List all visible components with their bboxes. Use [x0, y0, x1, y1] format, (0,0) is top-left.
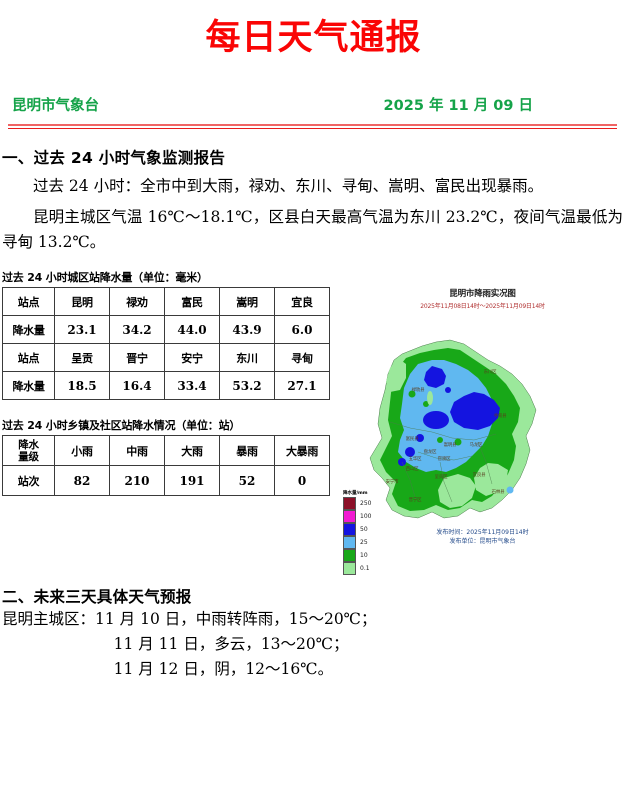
- rainfall-grade-table: 降水 量级 小雨 中雨 大雨 暴雨 大暴雨 站次 82 210: [2, 435, 330, 496]
- city-table-caption: 过去 24 小时城区站降水量（单位：毫米）: [2, 269, 332, 285]
- grade-count: 82: [55, 466, 110, 496]
- map-region-label: 盘龙区: [424, 449, 437, 455]
- map-region-darkblue-c: [423, 411, 449, 429]
- map-region-label: 石林县: [492, 489, 505, 495]
- legend-value: 100: [360, 513, 371, 520]
- map-subtitle: 2025年11月08日14时～2025年11月09日14时: [340, 301, 625, 310]
- grade-corner-line-2: 量级: [18, 451, 38, 463]
- tables-column: 过去 24 小时城区站降水量（单位：毫米） 站点 昆明 禄劝 富民 嵩明 宜良: [2, 269, 332, 496]
- grade-table-caption: 过去 24 小时乡镇及社区站降水情况（单位：站）: [2, 417, 332, 433]
- legend-value: 10: [360, 552, 368, 559]
- section-1-paragraph-1: 过去 24 小时：全市中到大雨，禄劝、东川、寻甸、嵩明、富民出现暴雨。: [2, 174, 623, 199]
- rainfall-value: 27.1: [275, 372, 330, 400]
- legend-value: 50: [360, 526, 368, 533]
- map-region-darkblue-speck: [507, 487, 514, 494]
- section-2-heading: 二、未来三天具体天气预报: [2, 585, 627, 607]
- map-region-label: 官渡区: [438, 456, 451, 462]
- grade-count: 191: [165, 466, 220, 496]
- table-row: 降水量 18.5 16.4 33.4 53.2 27.1: [3, 372, 330, 400]
- grade-count: 210: [110, 466, 165, 496]
- map-region-label: 呈贡区: [435, 474, 448, 480]
- legend-swatch-01: [343, 562, 356, 575]
- station-name: 嵩明: [220, 288, 275, 316]
- grade-count: 0: [275, 466, 330, 496]
- rainfall-value: 34.2: [110, 316, 165, 344]
- map-region-label: 安宁市: [386, 479, 399, 485]
- row-label-station: 站点: [3, 344, 55, 372]
- map-region-label: 宜良县: [473, 472, 486, 478]
- weather-report-page: 每日天气通报 昆明市气象台 2025 年 11 月 09 日 一、过去 24 小…: [0, 0, 627, 806]
- grade-name: 中雨: [110, 436, 165, 466]
- map-region-label: 东川区: [484, 369, 497, 375]
- forecast-line-2: 11 月 11 日，多云，13～20℃；: [2, 632, 627, 657]
- station-name: 安宁: [165, 344, 220, 372]
- grade-name: 暴雨: [220, 436, 275, 466]
- forecast-line-3: 11 月 12 日，阴，12～16℃。: [2, 657, 627, 682]
- station-name: 呈贡: [55, 344, 110, 372]
- row-label-rainfall: 降水量: [3, 372, 55, 400]
- map-region-label: 马龙区: [470, 442, 483, 448]
- row-label-count: 站次: [3, 466, 55, 496]
- legend-title: 降水量/mm: [343, 490, 389, 496]
- issuing-organization: 昆明市气象台: [12, 94, 99, 115]
- legend-swatch-100: [343, 510, 356, 523]
- data-and-map-zone: 过去 24 小时城区站降水量（单位：毫米） 站点 昆明 禄劝 富民 嵩明 宜良: [0, 269, 627, 579]
- legend-value: 250: [360, 500, 371, 507]
- map-region-label: 西山区: [406, 466, 419, 472]
- legend-value: 25: [360, 539, 368, 546]
- station-name: 禄劝: [110, 288, 165, 316]
- rainfall-value: 44.0: [165, 316, 220, 344]
- rainfall-value: 23.1: [55, 316, 110, 344]
- map-region-green-speck: [427, 391, 433, 405]
- header-meta-row: 昆明市气象台 2025 年 11 月 09 日: [0, 94, 627, 115]
- station-name: 宜良: [275, 288, 330, 316]
- map-region-label: 五华区: [409, 456, 422, 462]
- rainfall-map: 昆明市降雨实况图 2025年11月08日14时～2025年11月09日14时: [340, 273, 625, 573]
- legend-value: 0.1: [360, 565, 370, 572]
- map-region-label: 寻甸县: [494, 413, 507, 419]
- legend-item: 100: [343, 510, 389, 523]
- grade-corner-line-1: 降水: [18, 439, 38, 451]
- table-row: 降水量 23.1 34.2 44.0 43.9 6.0: [3, 316, 330, 344]
- rainfall-value: 16.4: [110, 372, 165, 400]
- grade-table-wrapper: 过去 24 小时乡镇及社区站降水情况（单位：站） 降水 量级 小雨: [2, 417, 332, 496]
- legend-swatch-25: [343, 536, 356, 549]
- station-name: 寻甸: [275, 344, 330, 372]
- legend-swatch-250: [343, 497, 356, 510]
- row-label-station: 站点: [3, 288, 55, 316]
- rainfall-value: 18.5: [55, 372, 110, 400]
- table-row: 降水 量级 小雨 中雨 大雨 暴雨 大暴雨: [3, 436, 330, 466]
- station-name: 昆明: [55, 288, 110, 316]
- station-name: 东川: [220, 344, 275, 372]
- map-region-label: 嵩明县: [444, 442, 457, 448]
- header-divider: [8, 124, 617, 129]
- rainfall-value: 33.4: [165, 372, 220, 400]
- rainfall-value: 43.9: [220, 316, 275, 344]
- grade-corner-label: 降水 量级: [3, 436, 55, 466]
- map-region-darkblue-speck: [445, 387, 451, 393]
- section-1-paragraph-2: 昆明主城区气温 16℃～18.1℃，区县白天最高气温为东川 23.2℃，夜间气温…: [2, 205, 623, 255]
- legend-item: 50: [343, 523, 389, 536]
- map-legend: 降水量/mm 250 100 50 25: [343, 490, 389, 575]
- map-region-label: 禄劝县: [412, 387, 425, 393]
- legend-item: 250: [343, 497, 389, 510]
- grade-name: 小雨: [55, 436, 110, 466]
- map-canvas: 禄劝县 东川区 寻甸县 富民县 嵩明县 盘龙区 五华区 官渡区 马龙区 西山区 …: [340, 312, 625, 527]
- legend-swatch-50: [343, 523, 356, 536]
- legend-item: 0.1: [343, 562, 389, 575]
- station-name: 晋宁: [110, 344, 165, 372]
- table-row: 站点 昆明 禄劝 富民 嵩明 宜良: [3, 288, 330, 316]
- map-title: 昆明市降雨实况图: [340, 287, 625, 299]
- station-name: 富民: [165, 288, 220, 316]
- row-label-rainfall: 降水量: [3, 316, 55, 344]
- document-title: 每日天气通报: [0, 0, 627, 60]
- legend-item: 10: [343, 549, 389, 562]
- legend-swatch-10: [343, 549, 356, 562]
- section-1-heading: 一、过去 24 小时气象监测报告: [2, 146, 627, 168]
- rainfall-value: 53.2: [220, 372, 275, 400]
- grade-count: 52: [220, 466, 275, 496]
- map-region-label: 富民县: [406, 436, 419, 442]
- grade-name: 大暴雨: [275, 436, 330, 466]
- grade-name: 大雨: [165, 436, 220, 466]
- city-rainfall-table: 站点 昆明 禄劝 富民 嵩明 宜良 降水量 23.1 34.2 44.0 43.…: [2, 287, 330, 400]
- legend-item: 25: [343, 536, 389, 549]
- map-region-green-speck: [437, 437, 443, 443]
- forecast-line-1: 昆明主城区：11 月 10 日，中雨转阵雨，15～20℃；: [2, 607, 627, 632]
- map-region-label: 晋宁区: [409, 497, 422, 503]
- report-date: 2025 年 11 月 09 日: [384, 94, 533, 115]
- table-row: 站次 82 210 191 52 0: [3, 466, 330, 496]
- table-row: 站点 呈贡 晋宁 安宁 东川 寻甸: [3, 344, 330, 372]
- rainfall-value: 6.0: [275, 316, 330, 344]
